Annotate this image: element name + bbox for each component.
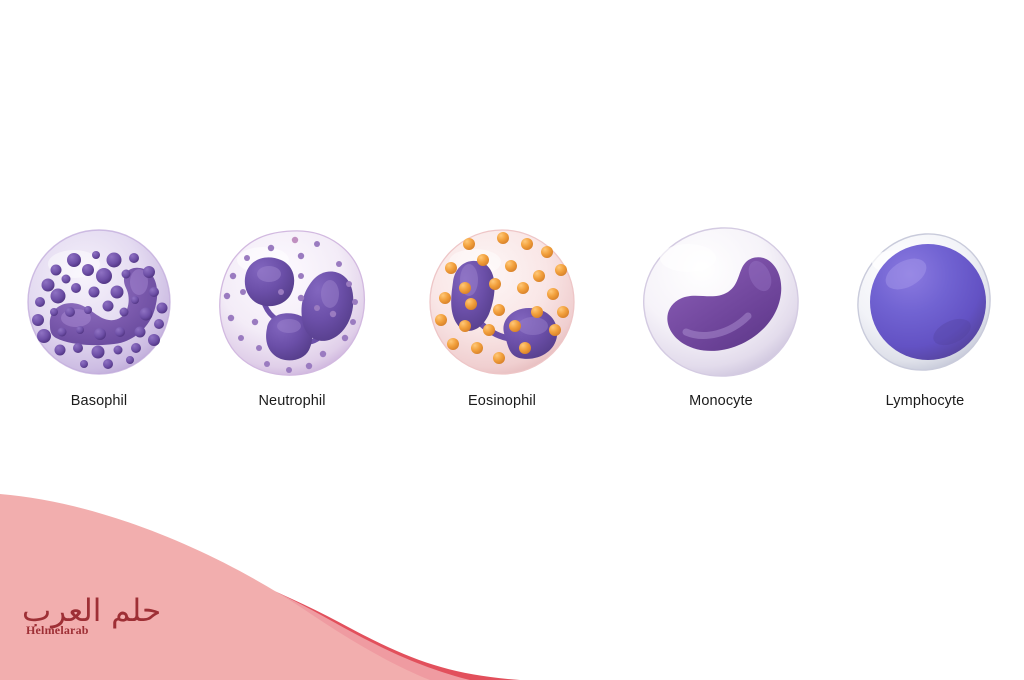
cell-label-monocyte: Monocyte <box>626 393 816 409</box>
cell-item-lymphocyte: Lymphocyte <box>830 222 1020 427</box>
monocyte-icon <box>626 222 816 382</box>
illustration-canvas: حلم العرب Helmelarab <box>0 0 1024 680</box>
neutrophil-figure <box>197 222 387 382</box>
basophil-icon <box>4 222 194 382</box>
basophil-figure <box>4 222 194 382</box>
cell-item-neutrophil: Neutrophil <box>197 222 387 427</box>
lymphocyte-figure <box>830 222 1020 382</box>
cell-item-eosinophil: Eosinophil <box>407 222 597 427</box>
eosinophil-icon <box>407 222 597 382</box>
cell-label-eosinophil: Eosinophil <box>407 393 597 409</box>
white-blood-cell-row: Basophil <box>0 222 1024 427</box>
neutrophil-icon <box>197 222 387 382</box>
cell-label-neutrophil: Neutrophil <box>197 393 387 409</box>
monocyte-figure <box>626 222 816 382</box>
cell-label-basophil: Basophil <box>4 393 194 409</box>
eosinophil-figure <box>407 222 597 382</box>
lymphocyte-icon <box>830 222 1020 382</box>
cell-item-basophil: Basophil <box>4 222 194 427</box>
watermark: حلم العرب Helmelarab <box>18 596 178 660</box>
cell-item-monocyte: Monocyte <box>626 222 816 427</box>
cell-label-lymphocyte: Lymphocyte <box>830 393 1020 409</box>
